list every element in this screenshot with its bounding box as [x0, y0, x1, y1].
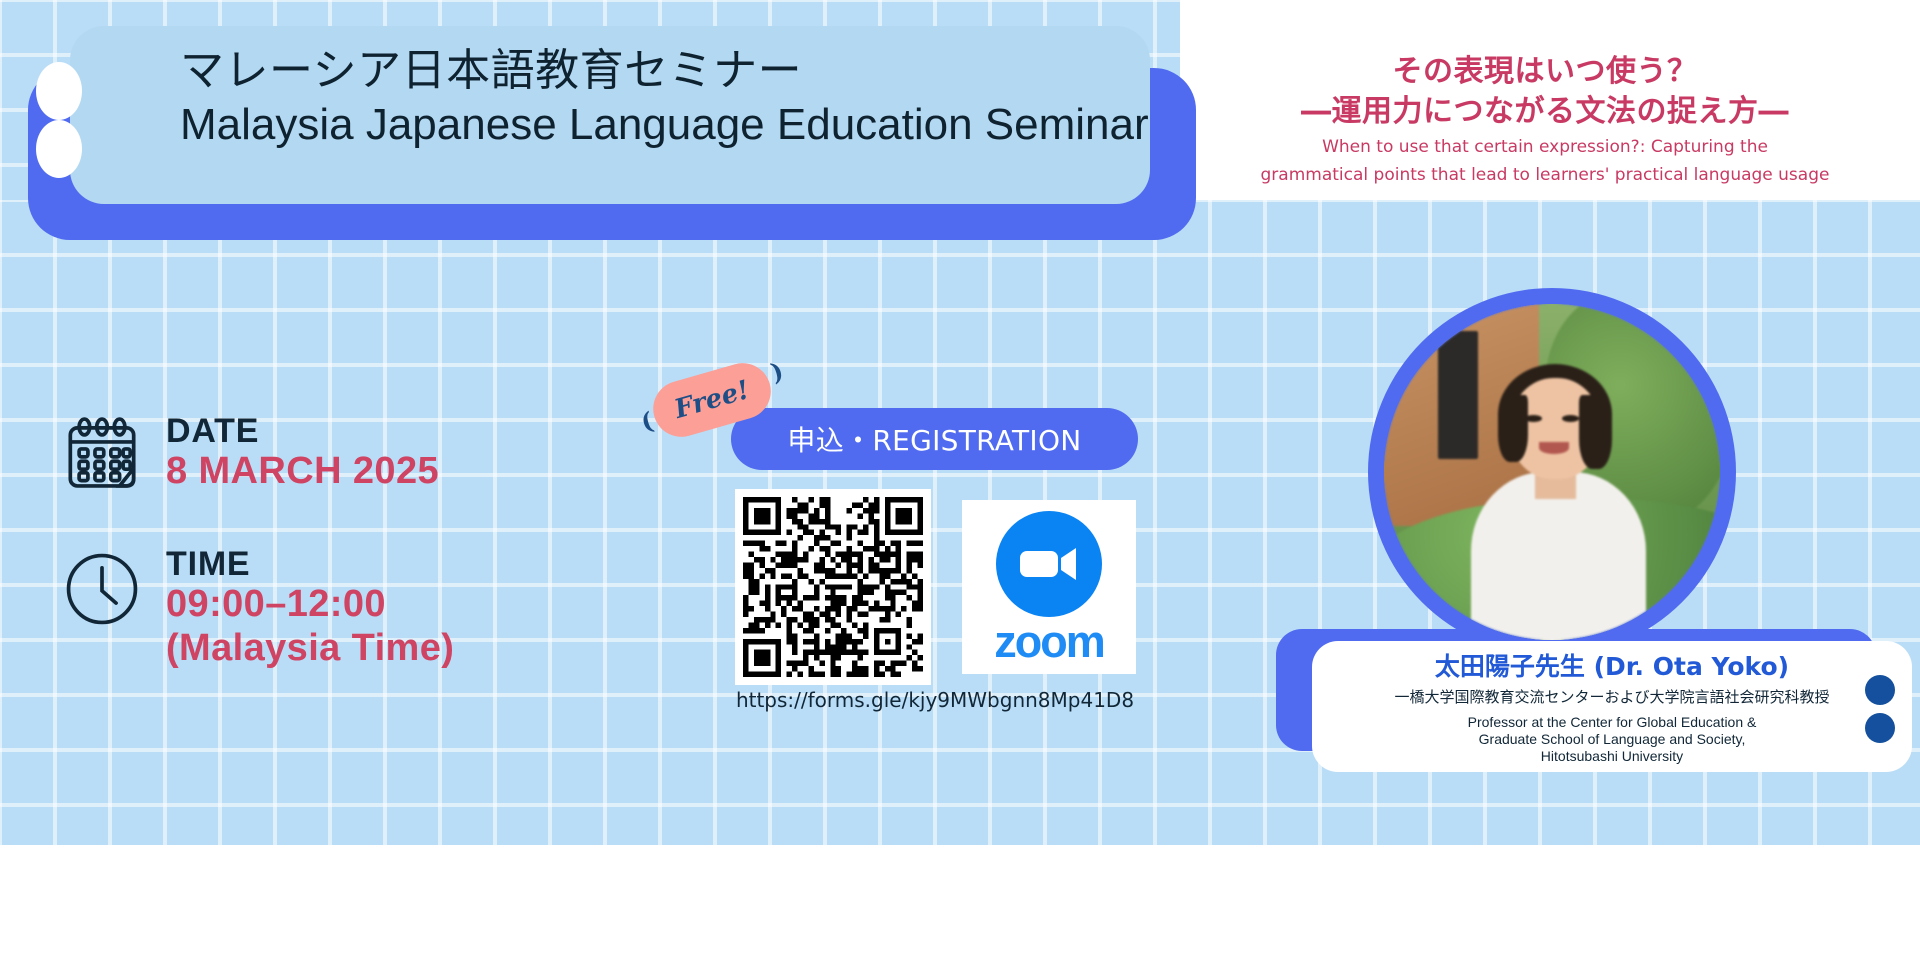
time-label: TIME	[166, 545, 454, 583]
calendar-icon	[58, 412, 146, 505]
seminar-title-jp: マレーシア日本語教育セミナー	[180, 44, 1150, 98]
date-text: DATE 8 MARCH 2025	[166, 412, 439, 494]
speaker-affiliation-en-line3: Hitotsubashi University	[1312, 748, 1912, 765]
speaker-photo	[1384, 304, 1720, 640]
subtitle-jp-line2: ―運用力につながる文法の捉え方―	[1180, 92, 1910, 132]
seminar-subtitle: その表現はいつ使う？ ―運用力につながる文法の捉え方― When to use …	[1180, 52, 1910, 187]
date-row: DATE 8 MARCH 2025	[58, 412, 439, 505]
time-text: TIME 09:00–12:00 (Malaysia Time)	[166, 545, 454, 670]
time-value-range: 09:00–12:00	[166, 583, 454, 627]
speaker-card-dot-top	[1865, 675, 1895, 705]
time-value-zone: (Malaysia Time)	[166, 627, 454, 671]
header-card: マレーシア日本語教育セミナー Malaysia Japanese Languag…	[70, 26, 1150, 204]
speaker-portrait-ring	[1368, 288, 1736, 656]
registration-button[interactable]: 申込・REGISTRATION	[731, 408, 1138, 470]
speaker-affiliation-en: Professor at the Center for Global Educa…	[1312, 714, 1912, 765]
date-value: 8 MARCH 2025	[166, 450, 439, 494]
registration-url[interactable]: https://forms.gle/kjy9MWbgnn8Mp41D8	[640, 688, 1230, 712]
video-camera-icon	[996, 511, 1102, 617]
subtitle-jp-line1: その表現はいつ使う？	[1180, 52, 1910, 92]
zoom-wordmark: zoom	[994, 619, 1104, 664]
qr-code-canvas	[743, 497, 923, 677]
registration-label: 申込・REGISTRATION	[787, 419, 1081, 459]
date-label: DATE	[166, 412, 439, 450]
subtitle-en-line1: When to use that certain expression?: Ca…	[1180, 135, 1910, 159]
speaker-card-dot-bottom	[1865, 713, 1895, 743]
header-dot-top	[36, 62, 82, 120]
subtitle-en-line2: grammatical points that lead to learners…	[1180, 163, 1910, 187]
footer-bar	[0, 845, 1920, 960]
header-dot-bottom	[36, 120, 82, 178]
clock-icon	[58, 545, 146, 638]
speaker-affiliation-en-line1: Professor at the Center for Global Educa…	[1312, 714, 1912, 731]
seminar-title-en: Malaysia Japanese Language Education Sem…	[180, 98, 1150, 152]
speaker-affiliation-en-line2: Graduate School of Language and Society,	[1312, 731, 1912, 748]
time-row: TIME 09:00–12:00 (Malaysia Time)	[58, 545, 454, 670]
zoom-logo: zoom	[962, 500, 1136, 674]
speaker-name: 太田陽子先生 (Dr. Ota Yoko)	[1312, 652, 1912, 682]
poster-canvas: マレーシア日本語教育セミナー Malaysia Japanese Languag…	[0, 0, 1920, 960]
speaker-card: 太田陽子先生 (Dr. Ota Yoko) 一橋大学国際教育交流センターおよび大…	[1312, 641, 1912, 772]
qr-code-icon[interactable]	[735, 489, 931, 685]
speaker-affiliation-jp: 一橋大学国際教育交流センターおよび大学院言語社会研究科教授	[1312, 688, 1912, 707]
